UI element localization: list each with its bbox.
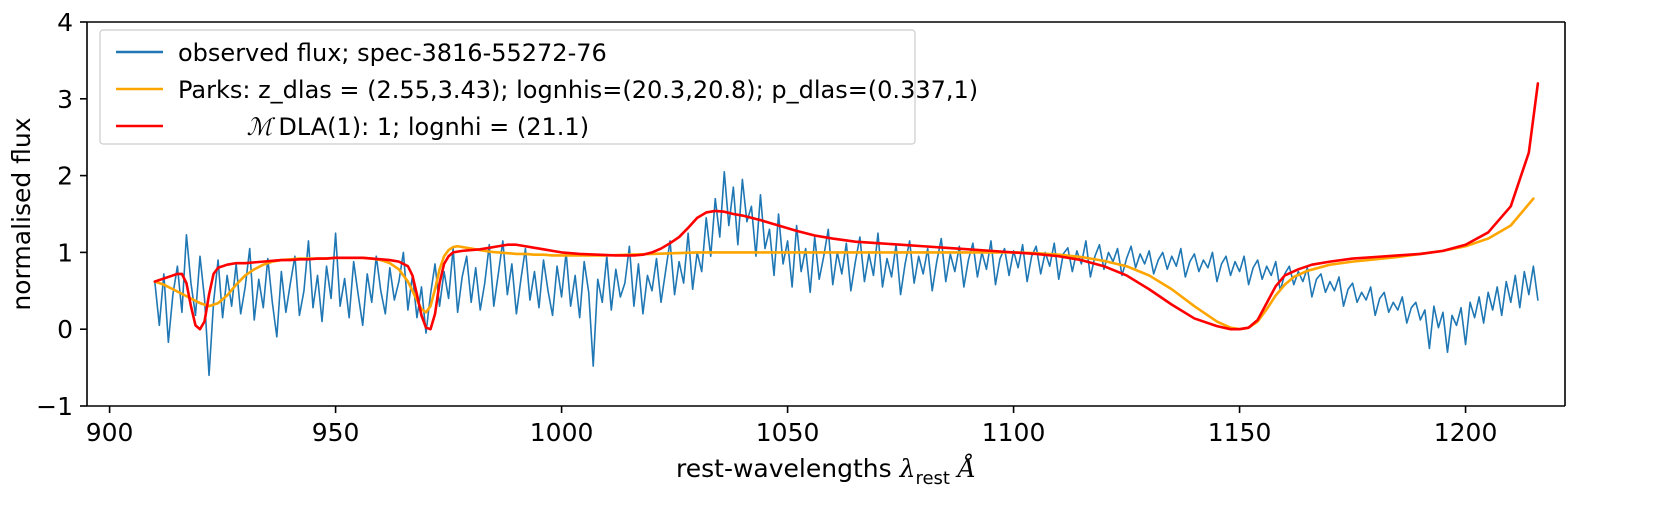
x-tick-label: 900 — [86, 418, 134, 447]
spectrum-figure: 90095010001050110011501200 −101234 norma… — [0, 0, 1661, 519]
x-tick-label: 1200 — [1434, 418, 1498, 447]
x-tick-label: 950 — [312, 418, 360, 447]
x-tick-label: 1150 — [1208, 418, 1272, 447]
legend-label-model: ℳDLA(1): 1; lognhi = (21.1) — [178, 113, 642, 141]
mathcal-m-symbol: ℳ — [247, 113, 276, 141]
y-tick-label: 3 — [57, 85, 73, 114]
x-axis-title-prefix: rest-wavelengths — [676, 454, 900, 483]
legend-label-observed: observed flux; spec-3816-55272-76 — [178, 39, 607, 67]
x-tick-label: 1100 — [982, 418, 1046, 447]
legend-label-parks: Parks: z_dlas = (2.55,3.43); lognhis=(20… — [178, 76, 978, 104]
lambda-symbol: λ — [899, 454, 916, 483]
y-axis-title: normalised flux — [7, 117, 36, 310]
y-tick-label: 4 — [57, 8, 73, 37]
x-tick-label: 1000 — [530, 418, 594, 447]
legend-box: observed flux; spec-3816-55272-76 Parks:… — [100, 30, 978, 144]
legend-label-model-text: DLA(1): 1; lognhi = (21.1) — [278, 113, 589, 141]
x-tick-label: 1050 — [756, 418, 820, 447]
angstrom-unit: Å — [955, 453, 976, 483]
y-tick-label: 0 — [57, 315, 73, 344]
plot-canvas: 90095010001050110011501200 −101234 norma… — [0, 0, 1661, 519]
y-tick-label: −1 — [36, 392, 73, 421]
y-tick-label: 1 — [57, 238, 73, 267]
y-tick-label: 2 — [57, 162, 73, 191]
y-axis-title-group: normalised flux — [7, 117, 36, 310]
x-axis-title-subscript: rest — [915, 468, 950, 489]
